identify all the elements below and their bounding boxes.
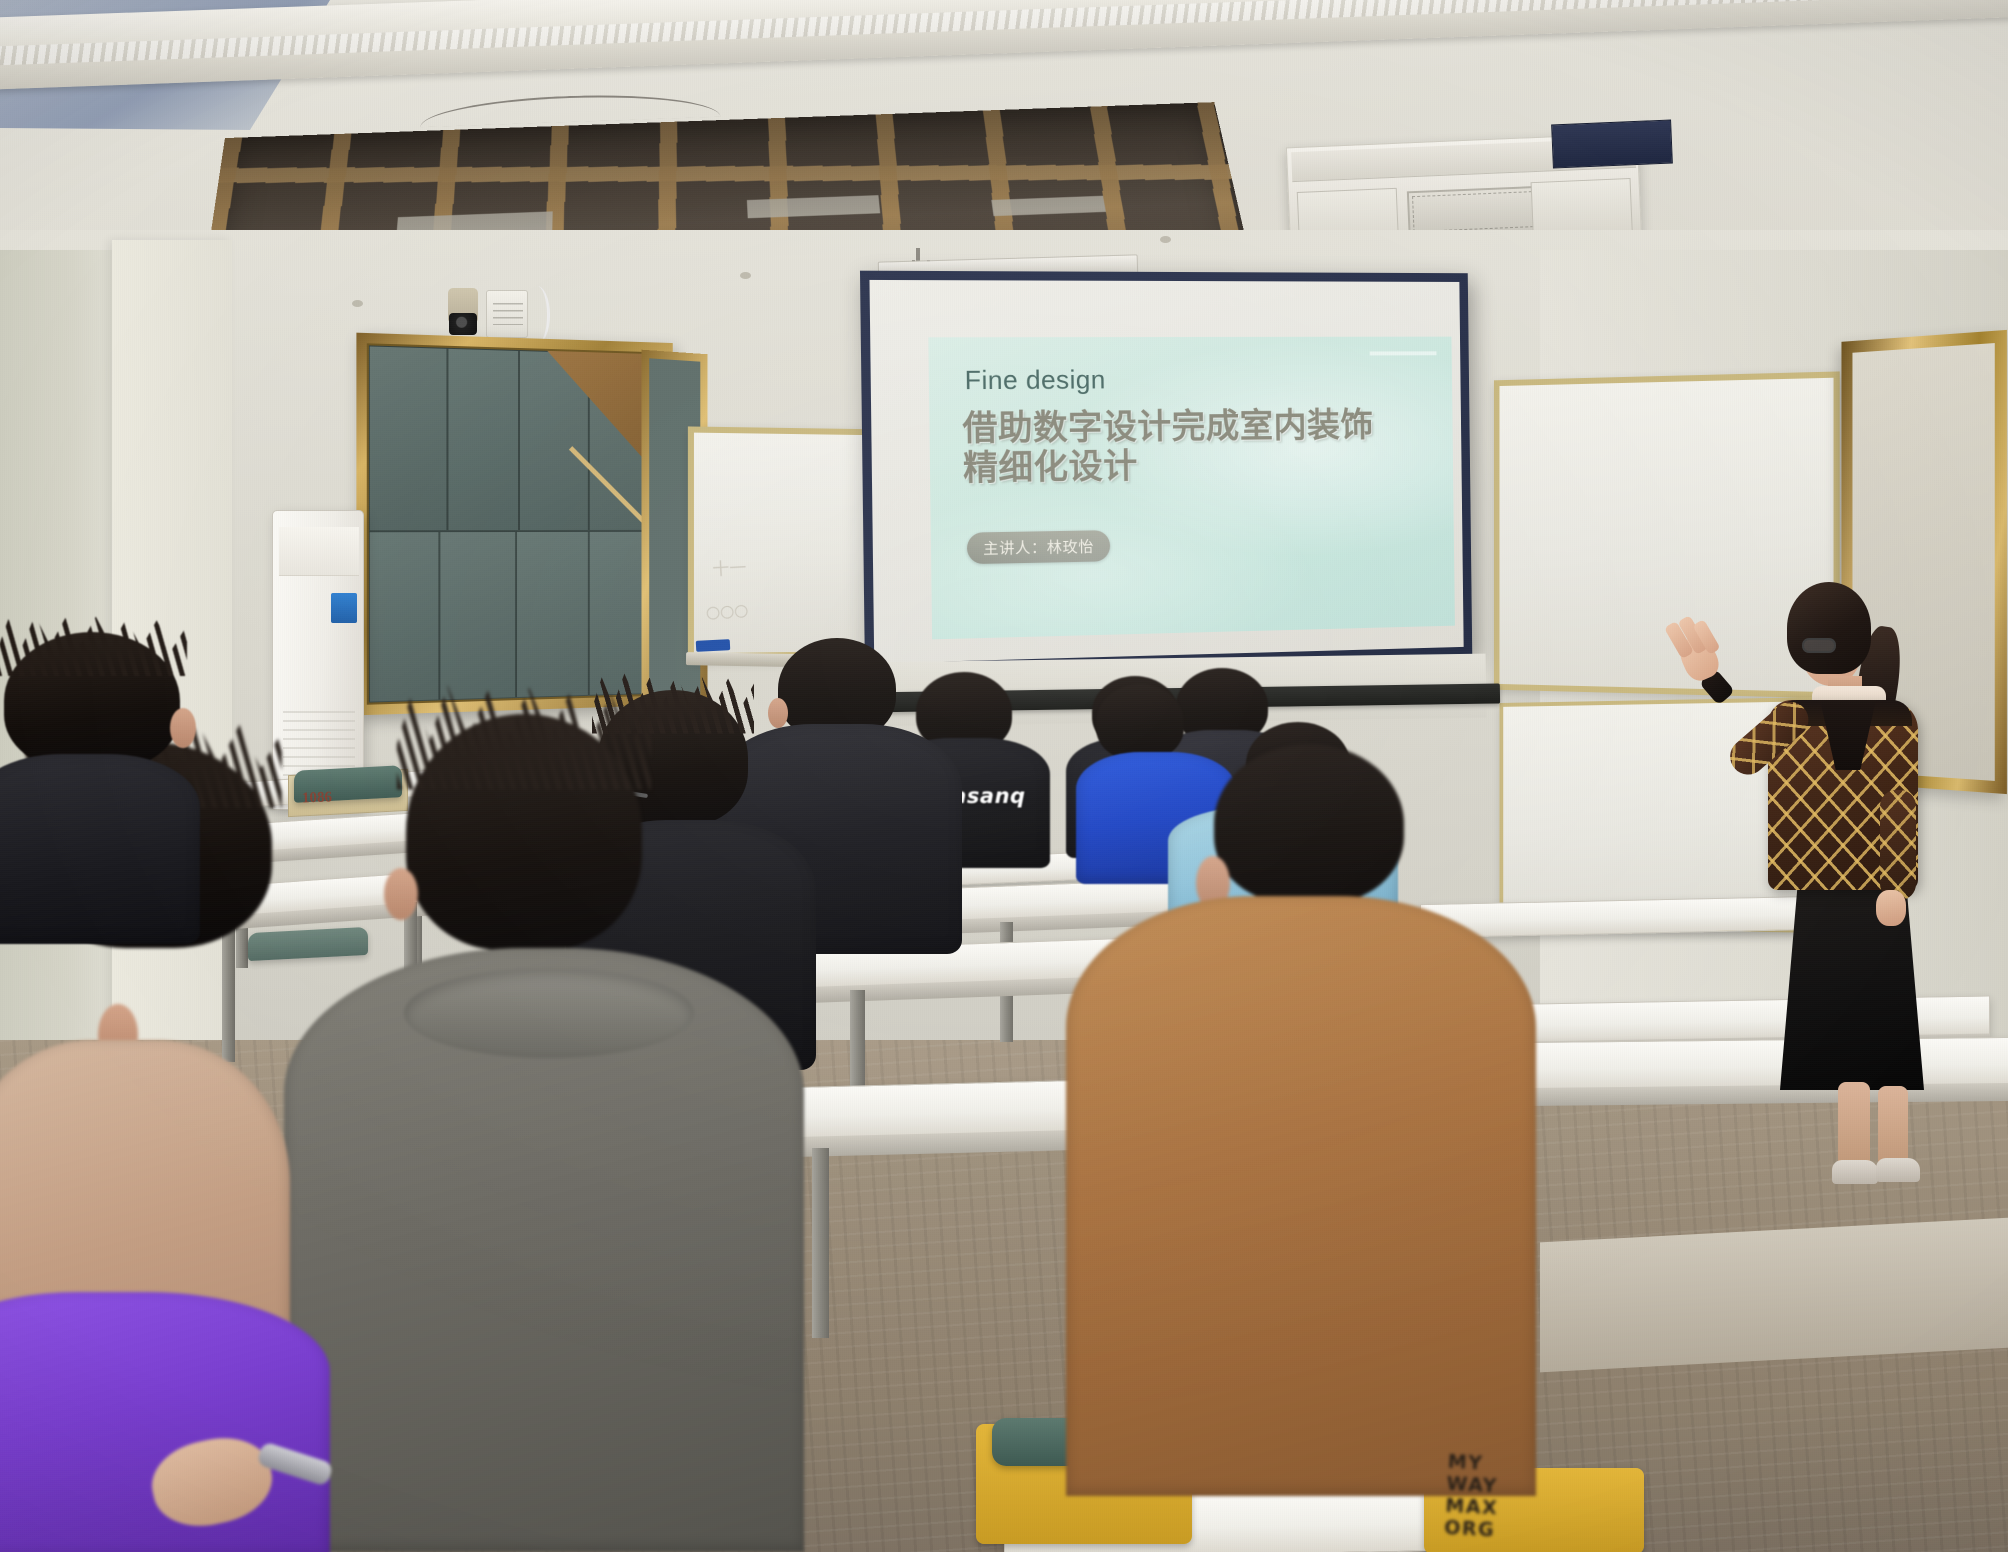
slide-title-line-1: 借助数字设计完成室内装饰: [962, 406, 1442, 450]
hoodie-hood: [404, 968, 694, 1058]
floor-light-strip: [1540, 1218, 2008, 1373]
jacket-text-my-way: MY WAY MAX ORG: [1444, 1451, 1501, 1542]
teacher-eyeglasses-icon: [1802, 638, 1836, 653]
ac-energy-label: [331, 593, 357, 623]
whiteboard-left: 十一 〇〇〇: [688, 426, 892, 659]
device-cable: [524, 286, 550, 344]
presentation-slide: Fine design 借助数字设计完成室内装饰 精细化设计 主讲人：林玫怡: [929, 337, 1455, 639]
slide-title: 借助数字设计完成室内装饰 精细化设计: [962, 406, 1443, 490]
ceiling-ac-blue-panel: [1551, 120, 1673, 169]
slide-eyebrow: Fine design: [965, 364, 1106, 396]
teacher-hair: [1787, 582, 1871, 674]
teacher-left-arm: [1880, 790, 1916, 900]
teacher-left-hand: [1876, 890, 1906, 926]
wall-decor-panel: [356, 333, 672, 716]
desk-number-1086: 1086: [302, 789, 333, 807]
classroom-photo: 十一 〇〇〇 Fine design 借助数字设计完成室内装饰 精细化设计 主讲…: [0, 0, 2008, 1552]
slide-title-line-2: 精细化设计: [963, 445, 1443, 490]
whiteboard-marker: [696, 639, 731, 652]
standing-ac-unit: [272, 510, 364, 810]
slide-presenter-badge: 主讲人：林玫怡: [967, 530, 1111, 564]
teacher-shoe: [1832, 1160, 1878, 1184]
teacher-shoe: [1876, 1158, 1920, 1182]
projection-screen: Fine design 借助数字设计完成室内装饰 精细化设计 主讲人：林玫怡: [860, 271, 1472, 673]
wall-speaker-device: [486, 290, 528, 338]
